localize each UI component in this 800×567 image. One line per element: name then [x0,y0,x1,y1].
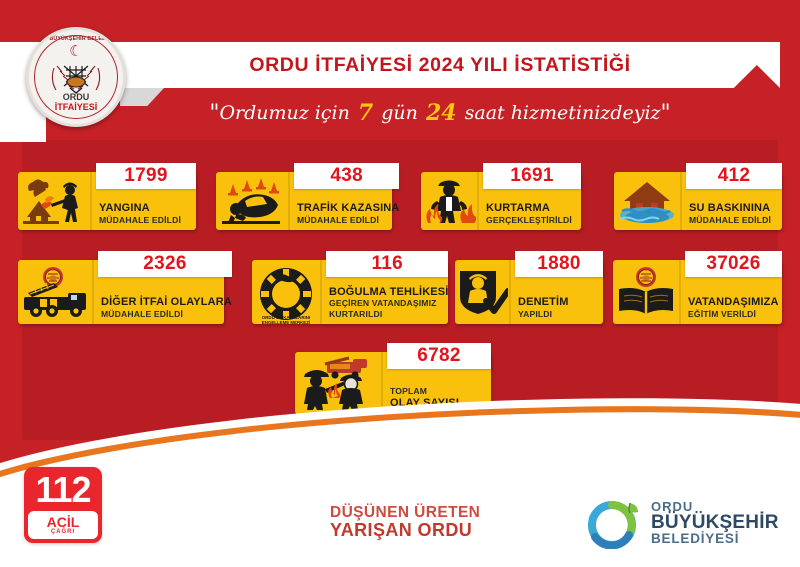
stat-card-drowning-rescue[interactable]: ORDU BÜYÜKŞEHİR BELEDİYESİ OSKEM ORDU SU… [252,260,448,324]
stat-card-body: 1691 KURTARMA GERÇEKLEŞTİRİLDİ [479,172,581,230]
stat-label-line1: BOĞULMA TEHLİKESİ [329,286,448,298]
stat-label-line1: DENETİM [518,296,603,308]
stat-label-line1: SU BASKININA [689,202,782,214]
quote-close: " [661,101,671,126]
overturned-car-cones-icon [216,172,290,230]
emblem-outer-text: ORDU BÜYÜKŞEHİR BELEDİYESİ [29,36,123,42]
stat-card-rescue[interactable]: 1691 KURTARMA GERÇEKLEŞTİRİLDİ [421,172,581,230]
stat-card-body: 1799 YANGINA MÜDAHALE EDİLDİ [92,172,196,230]
oskem-lifebuoy-icon: ORDU BÜYÜKŞEHİR BELEDİYESİ OSKEM ORDU SU… [252,260,322,324]
stat-label-line1: TOPLAM [390,386,491,396]
stat-card-body: 412 SU BASKININA MÜDAHALE EDİLDİ [682,172,782,230]
stat-label-line2: YAPILDI [518,309,603,319]
stat-label-line2: MÜDAHALE EDİLDİ [101,309,232,319]
slogan-highlight-7: 7 [356,100,375,126]
stat-card-traffic-accident[interactable]: 438 TRAFİK KAZASINA MÜDAHALE EDİLDİ [216,172,392,230]
stat-value: 1799 [96,163,196,189]
stat-card-flood[interactable]: 412 SU BASKININA MÜDAHALE EDİLDİ [614,172,782,230]
municipality-text: ORDU BÜYÜKŞEHİR BELEDİYESİ [651,500,779,546]
stat-card-inspection[interactable]: 1880 DENETİM YAPILDI [455,260,603,324]
fire-truck-ladder-icon [18,260,94,324]
emergency-112-logo: 112 ACİL ÇAĞRI [24,467,102,543]
municipality-logo: ORDU BÜYÜKŞEHİR BELEDİYESİ [586,497,779,549]
footer-slogan-line2: YARIŞAN ORDU [330,521,480,540]
stat-label-line1: TRAFİK KAZASINA [297,202,399,214]
stat-value: 1880 [515,251,603,277]
page-title: ORDU İTFAİYESİ 2024 YILI İSTATİSTİĞİ [140,42,740,88]
emblem-line-2: İTFAİYESİ [29,103,123,112]
stat-card-other-incidents[interactable]: 2326 DİĞER İTFAİ OLAYLARA MÜDAHALE EDİLD… [18,260,224,324]
stat-label-line2: GERÇEKLEŞTİRİLDİ [486,215,581,225]
firefighter-rescue-flames-icon [421,172,479,230]
infographic-poster: ORDU İTFAİYESİ 2024 YILI İSTATİSTİĞİ " O… [0,0,800,567]
stat-card-body: 2326 DİĞER İTFAİ OLAYLARA MÜDAHALE EDİLD… [94,260,232,324]
footer-slogan: DÜŞÜNEN ÜRETEN YARIŞAN ORDU [330,505,480,540]
stat-label-line3: KURTARILDI [329,309,448,319]
stat-value: 37026 [685,251,782,277]
municipality-line3: BELEDİYESİ [651,532,779,546]
slogan-part-2: gün [381,102,418,124]
header-slogan: " Ordumuz için 7 gün 24 saat hizmetinizd… [150,96,730,130]
stat-label-line2: MÜDAHALE EDİLDİ [297,215,399,225]
emergency-plate: ACİL ÇAĞRI [28,511,98,539]
slogan-part-3: saat hizmetinizdeyiz [465,102,661,124]
emergency-sub: ÇAĞRI [51,529,75,535]
emergency-label: ACİL [47,516,80,529]
municipality-line2: BÜYÜKŞEHİR [651,513,779,532]
stat-value: 438 [294,163,399,189]
stat-label-line1: YANGINA [99,202,196,214]
footer-slogan-line1: DÜŞÜNEN ÜRETEN [330,505,480,521]
stat-label-line2: MÜDAHALE EDİLDİ [99,215,196,225]
stat-value: 116 [326,251,448,277]
ordu-itfaiyesi-emblem: ORDU BÜYÜKŞEHİR BELEDİYESİ ☾ ORDU İTFAİY… [26,27,126,127]
oskem-subtitle: ORDU SU KAZALARINI ENGELLEME MERKEZİ [252,315,320,325]
stat-card-body: 438 TRAFİK KAZASINA MÜDAHALE EDİLDİ [290,172,399,230]
stat-label-line2: MÜDAHALE EDİLDİ [689,215,782,225]
house-fire-firefighter-icon [18,172,92,230]
stat-card-body: 116 BOĞULMA TEHLİKESİ GEÇİREN VATANDAŞIM… [322,260,448,324]
stat-card-body: 37026 VATANDAŞIMIZA EĞİTİM VERİLDİ [681,260,782,324]
stat-value: 6782 [387,343,491,369]
inspection-shield-check-icon [455,260,511,324]
stat-label-line1: KURTARMA [486,202,581,214]
open-book-emblem-icon [613,260,681,324]
oskem-sub-line2: ENGELLEME MERKEZİ [262,320,310,325]
stat-label-line2: EĞİTİM VERİLDİ [688,309,782,319]
stat-value: 2326 [98,251,232,277]
flooded-house-icon [614,172,682,230]
stat-card-fire[interactable]: 1799 YANGINA MÜDAHALE EDİLDİ [18,172,196,230]
stat-value: 1691 [483,163,581,189]
crescent-star-icon: ☾ [69,44,82,59]
emblem-bottom-text: ORDU İTFAİYESİ [29,93,123,112]
stat-card-education[interactable]: 37026 VATANDAŞIMIZA EĞİTİM VERİLDİ [613,260,782,324]
two-firefighters-truck-icon [295,352,383,414]
quote-open: " [209,101,219,126]
oskem-logo: ORDU BÜYÜKŞEHİR BELEDİYESİ OSKEM [260,268,312,320]
stat-label-line2: GEÇİREN VATANDAŞIMIZ [329,298,448,308]
slogan-part-1: Ordumuz için [219,102,349,124]
stat-label-line1: VATANDAŞIMIZA [688,296,782,308]
emergency-number: 112 [24,469,102,511]
stat-card-body: 1880 DENETİM YAPILDI [511,260,603,324]
municipality-circle-icon [586,497,642,549]
stat-value: 412 [686,163,782,189]
slogan-highlight-24: 24 [424,100,459,126]
stat-label-line1: DİĞER İTFAİ OLAYLARA [101,296,232,308]
